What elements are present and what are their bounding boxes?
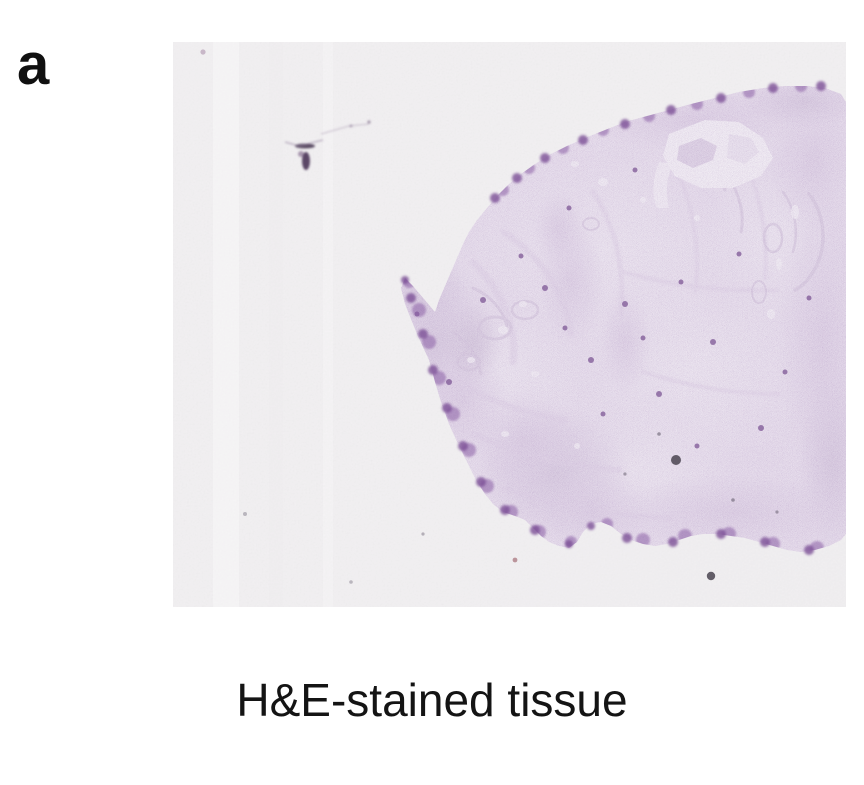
debris-speck-lower-center [707, 572, 715, 580]
debris-speck-center-right [671, 455, 681, 465]
tissue-slide-svg [173, 42, 846, 607]
nuclei-speckle-overlay [173, 42, 846, 607]
figure-caption: H&E-stained tissue [0, 672, 864, 728]
tissue-section [173, 42, 846, 607]
h-and-e-tissue-image [173, 42, 846, 607]
figure-panel-a: a [0, 0, 864, 785]
panel-label-a: a [17, 36, 49, 94]
debris-speck-top-left-corner [200, 49, 205, 54]
